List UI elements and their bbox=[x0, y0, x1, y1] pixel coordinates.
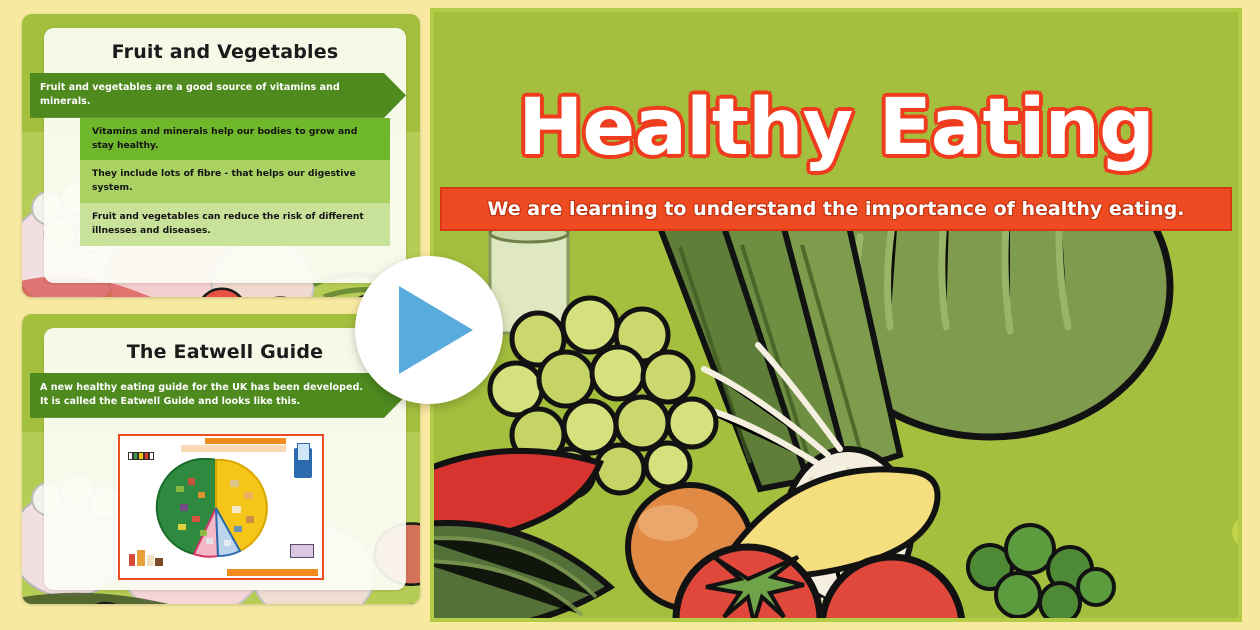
presentation-preview: Fruit and Vegetables Fruit and vegetable… bbox=[0, 0, 1260, 630]
healthy-food-vegetables-illustration-icon bbox=[434, 227, 1238, 622]
water-bottle-icon bbox=[294, 448, 312, 478]
eatwell-bottom-bar bbox=[227, 569, 318, 576]
eatwell-top-bar bbox=[205, 438, 286, 444]
slide-1-band-1: Vitamins and minerals help our bodies to… bbox=[80, 118, 390, 161]
play-triangle-icon bbox=[399, 286, 473, 374]
main-slide-subtitle: We are learning to understand the import… bbox=[487, 198, 1184, 220]
play-button[interactable] bbox=[355, 256, 503, 404]
slide-2-title: The Eatwell Guide bbox=[44, 328, 406, 363]
main-slide-subtitle-band: We are learning to understand the import… bbox=[440, 187, 1232, 231]
slide-1-title: Fruit and Vegetables bbox=[44, 28, 406, 63]
slide-1-band-2: They include lots of fibre - that helps … bbox=[80, 160, 390, 203]
slide-2-pennant-banner: A new healthy eating guide for the UK ha… bbox=[30, 373, 406, 418]
eatwell-plate-segments-icon bbox=[148, 458, 284, 558]
twinkl-cloud-watermark: twinkl bbox=[1229, 510, 1242, 552]
slide-1-pennant-banner: Fruit and vegetables are a good source o… bbox=[30, 73, 406, 118]
slide-1-band-3: Fruit and vegetables can reduce the risk… bbox=[80, 203, 390, 246]
eatwell-top-bar-light bbox=[181, 445, 286, 452]
oils-and-spreads-icon bbox=[290, 544, 314, 558]
main-slide-title: Healthy Eating bbox=[434, 90, 1238, 166]
main-slide-preview[interactable]: Healthy Eating We are learning to unders… bbox=[430, 8, 1242, 622]
slide-thumbnail-1[interactable]: Fruit and Vegetables Fruit and vegetable… bbox=[22, 14, 420, 297]
twinkl-watermark-text: twinkl bbox=[1229, 521, 1242, 541]
snacks-group-icon bbox=[128, 546, 164, 568]
eatwell-guide-plate-diagram bbox=[118, 434, 324, 580]
thumbnail-1-card: Fruit and Vegetables Fruit and vegetable… bbox=[44, 28, 406, 283]
